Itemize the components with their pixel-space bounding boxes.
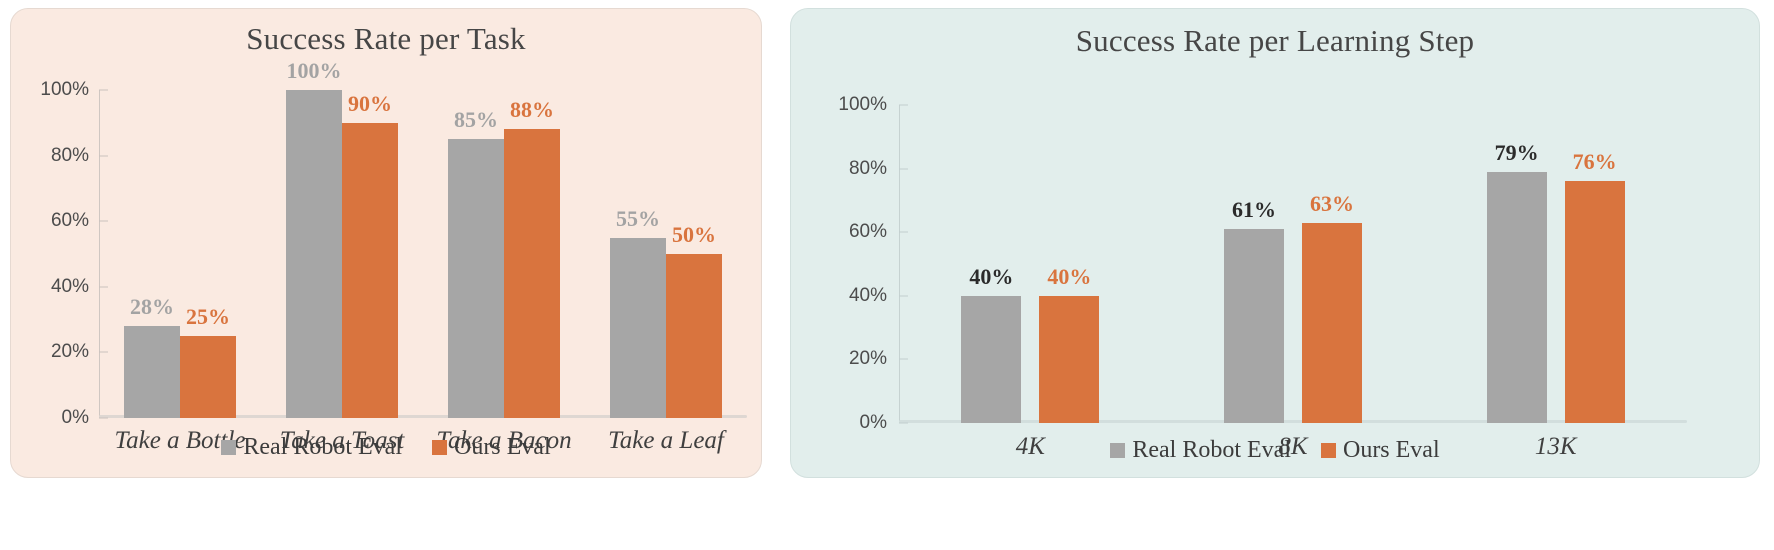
bar-value-label: 40% [1047, 264, 1091, 290]
legend-label: Real Robot Eval [243, 434, 402, 461]
bar-ours-eval[interactable]: 25% [180, 336, 236, 418]
bar-value-label: 40% [969, 264, 1013, 290]
chart-title: Success Rate per Learning Step [791, 23, 1759, 59]
y-tick-label: 60% [15, 210, 89, 232]
bar-value-label: 85% [454, 107, 498, 133]
y-tick-label: 100% [807, 94, 887, 116]
bar-value-label: 28% [130, 294, 174, 320]
bar-group: 55% 50% [585, 90, 747, 418]
figure-root: Success Rate per Task 100% 80% 60% 40% 2… [0, 0, 1774, 550]
bar-group: 85% 88% [423, 90, 585, 418]
bar-groups: 28% 25% 100% 90% 85% 88% 55% 50% [99, 90, 747, 418]
bar-ours-eval[interactable]: 63% [1302, 223, 1362, 423]
bar-value-label: 79% [1495, 140, 1539, 166]
bar-value-label: 25% [186, 304, 230, 330]
legend-label: Real Robot Eval [1132, 437, 1291, 464]
y-tick-label: 80% [15, 145, 89, 167]
bar-real-robot-eval[interactable]: 28% [124, 326, 180, 418]
bar-value-label: 50% [672, 222, 716, 248]
bar-real-robot-eval[interactable]: 40% [961, 296, 1021, 423]
y-tick-label: 0% [807, 412, 887, 434]
legend: Real Robot Eval Ours Eval [11, 434, 761, 461]
bar-real-robot-eval[interactable]: 79% [1487, 172, 1547, 423]
bar-value-label: 88% [510, 97, 554, 123]
legend-label: Ours Eval [1343, 437, 1440, 464]
bar-ours-eval[interactable]: 76% [1565, 181, 1625, 423]
y-tick-label: 20% [15, 341, 89, 363]
bar-real-robot-eval[interactable]: 61% [1224, 229, 1284, 423]
chart-title: Success Rate per Task [11, 21, 761, 57]
legend-item-real-robot-eval[interactable]: Real Robot Eval [1110, 437, 1291, 464]
bar-real-robot-eval[interactable]: 100% [286, 90, 342, 418]
bar-value-label: 76% [1573, 149, 1617, 175]
bar-value-label: 100% [287, 58, 342, 84]
legend-swatch-icon [432, 440, 447, 455]
legend-item-ours-eval[interactable]: Ours Eval [432, 434, 551, 461]
bar-ours-eval[interactable]: 40% [1039, 296, 1099, 423]
bar-group: 61% 63% [1162, 105, 1425, 423]
legend-swatch-icon [1110, 443, 1125, 458]
y-tick-label: 60% [807, 221, 887, 243]
bar-ours-eval[interactable]: 90% [342, 123, 398, 418]
chart-panel-success-rate-per-task: Success Rate per Task 100% 80% 60% 40% 2… [10, 8, 762, 478]
y-tick-label: 0% [15, 407, 89, 429]
legend-swatch-icon [1321, 443, 1336, 458]
legend-swatch-icon [221, 440, 236, 455]
y-tick-label: 40% [807, 285, 887, 307]
bar-value-label: 61% [1232, 197, 1276, 223]
bar-value-label: 90% [348, 91, 392, 117]
bar-real-robot-eval[interactable]: 55% [610, 238, 666, 418]
bar-group: 28% 25% [99, 90, 261, 418]
bar-value-label: 55% [616, 206, 660, 232]
y-tick-label: 20% [807, 348, 887, 370]
plot-area-task: 100% 80% 60% 40% 20% 0% 28% 25% 10 [99, 90, 747, 418]
legend-item-real-robot-eval[interactable]: Real Robot Eval [221, 434, 402, 461]
bar-group: 100% 90% [261, 90, 423, 418]
bar-real-robot-eval[interactable]: 85% [448, 139, 504, 418]
y-tick-label: 40% [15, 276, 89, 298]
bar-value-label: 63% [1310, 191, 1354, 217]
y-tick-label: 80% [807, 158, 887, 180]
legend: Real Robot Eval Ours Eval [791, 437, 1759, 464]
legend-item-ours-eval[interactable]: Ours Eval [1321, 437, 1440, 464]
plot-area-learning-step: 100% 80% 60% 40% 20% 0% 40% 40% 61 [899, 105, 1687, 423]
bar-group: 79% 76% [1424, 105, 1687, 423]
y-tick-label: 100% [15, 79, 89, 101]
bar-group: 40% 40% [899, 105, 1162, 423]
bar-ours-eval[interactable]: 88% [504, 129, 560, 418]
legend-label: Ours Eval [454, 434, 551, 461]
bar-ours-eval[interactable]: 50% [666, 254, 722, 418]
chart-panel-success-rate-per-learning-step: Success Rate per Learning Step 100% 80% … [790, 8, 1760, 478]
bar-groups: 40% 40% 61% 63% 79% 76% [899, 105, 1687, 423]
